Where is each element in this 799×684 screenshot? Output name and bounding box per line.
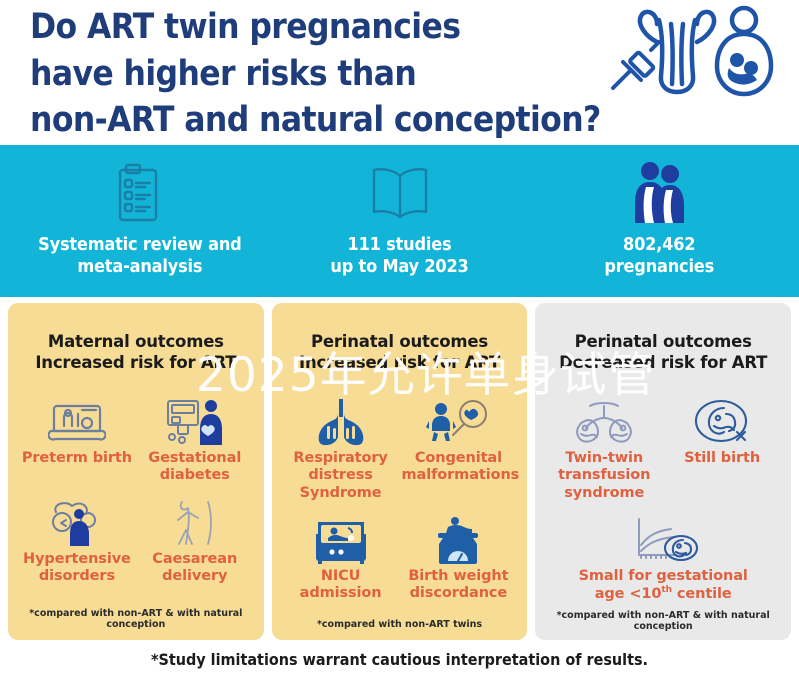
stat-systematic-review: Systematic review and meta-analysis — [10, 160, 270, 279]
outcome-label: Twin-twin transfusion syndrome — [547, 450, 661, 502]
page-title: Do ART twin pregnancies have higher risk… — [30, 4, 620, 144]
growth-chart-fetus-icon — [547, 512, 779, 568]
panel-maternal-increased: Maternal outcomes Increased risk for ART… — [8, 303, 264, 640]
two-pregnant-women-icon — [529, 160, 789, 226]
outcome-item-hypertensive-disorders: Hypertensive disorders — [18, 491, 136, 586]
outcome-item-preterm-birth: Preterm birth — [18, 390, 136, 485]
outcome-item-small-for-gestational-age: Small for gestational age <10th centile — [545, 508, 781, 604]
panel-title: Maternal outcomes Increased risk for ART — [18, 331, 254, 374]
outcome-item-twin-twin-transfusion: Twin-twin transfusion syndrome — [545, 390, 663, 502]
caesarean-scar-icon — [138, 495, 252, 551]
outcome-label: NICU admission — [284, 568, 398, 603]
study-limitations-note: *Study limitations warrant cautious inte… — [151, 650, 648, 669]
panel-perinatal-increased: Perinatal outcomes Increased risk for AR… — [272, 303, 528, 640]
stats-band: Systematic review and meta-analysis 111 … — [0, 145, 799, 297]
panel-title: Perinatal outcomes Increased risk for AR… — [282, 331, 518, 374]
nicu-incubator-icon — [284, 512, 398, 568]
panel-perinatal-decreased: Perinatal outcomes Decreased risk for AR… — [535, 303, 791, 640]
twin-fetuses-icon — [728, 53, 758, 85]
panel-footnote: *compared with non-ART & with natural co… — [18, 608, 254, 634]
panel-footnote: *compared with non-ART twins — [282, 619, 518, 634]
incubator-crib-icon — [20, 394, 134, 450]
outcome-label-superscript: th — [661, 585, 672, 595]
footer: *Study limitations warrant cautious inte… — [0, 640, 799, 678]
outcome-item-still-birth: Still birth — [663, 390, 781, 502]
headline-line-1: Do ART twin pregnancies — [30, 4, 620, 51]
baby-magnifier-heart-icon — [402, 394, 516, 450]
outcome-item-caesarean-delivery: Caesarean delivery — [136, 491, 254, 586]
outcome-item-nicu-admission: NICU admission — [282, 508, 400, 603]
header: Do ART twin pregnancies have higher risk… — [0, 0, 799, 145]
outcome-label: Respiratory distress Syndrome — [284, 450, 398, 502]
header-icon-group — [601, 2, 781, 102]
headline-line-3: non-ART and natural conception? — [30, 97, 620, 144]
outcome-item-congenital-malformations: Congenital malformations — [400, 390, 518, 502]
syringe-icon — [613, 42, 659, 88]
headline-line-2: have higher risks than — [30, 51, 620, 98]
twin-fetuses-placenta-icon — [547, 394, 661, 450]
clipboard-checklist-icon — [10, 160, 270, 226]
stat-pregnancies-count: 802,462 pregnancies — [529, 160, 789, 279]
panel-title: Perinatal outcomes Decreased risk for AR… — [545, 331, 781, 374]
outcome-label: Gestational diabetes — [138, 450, 252, 485]
outcome-item-birth-weight-discordance: Birth weight discordance — [400, 508, 518, 603]
outcome-label: Congenital malformations — [402, 450, 516, 485]
outcome-label: Hypertensive disorders — [20, 551, 134, 586]
outcome-item-gestational-diabetes: Gestational diabetes — [136, 390, 254, 485]
panel-footnote: *compared with non-ART & with natural co… — [545, 610, 781, 636]
outcome-panels: Maternal outcomes Increased risk for ART… — [0, 297, 799, 640]
fetus-cross-icon — [665, 394, 779, 450]
outcome-label: Still birth — [665, 450, 779, 467]
panel-items: Respiratory distress Syndrome — [282, 374, 518, 619]
outcome-item-respiratory-distress: Respiratory distress Syndrome — [282, 390, 400, 502]
outcome-label: Caesarean delivery — [138, 551, 252, 586]
glucose-monitor-pregnant-icon — [138, 394, 252, 450]
stat-label: 802,462 pregnancies — [529, 234, 789, 279]
outcome-label: Preterm birth — [20, 450, 134, 467]
baby-weighing-scale-icon — [402, 512, 516, 568]
blood-pressure-pregnant-icon — [20, 495, 134, 551]
outcome-label-suffix: centile — [672, 586, 732, 602]
stat-label: Systematic review and meta-analysis — [10, 234, 270, 279]
open-book-icon — [270, 160, 530, 226]
panel-items: Preterm birth — [18, 374, 254, 608]
outcome-label: Birth weight discordance — [402, 568, 516, 603]
outcome-label: Small for gestational age <10th centile — [547, 568, 779, 604]
stat-label: 111 studies up to May 2023 — [270, 234, 530, 279]
panel-items: Twin-twin transfusion syndrome Still bir… — [545, 374, 781, 610]
lungs-icon — [284, 394, 398, 450]
stat-studies-count: 111 studies up to May 2023 — [270, 160, 530, 279]
